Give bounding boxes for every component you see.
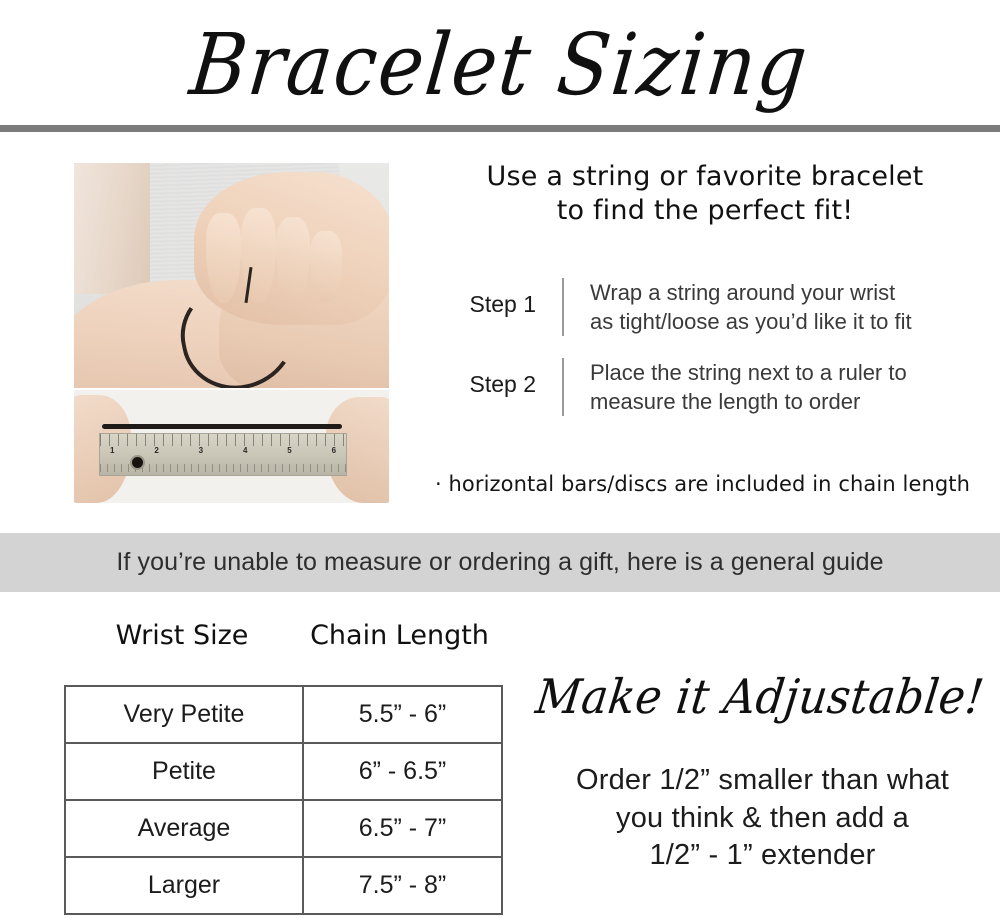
page-title: Bracelet Sizing [186, 14, 814, 114]
ruler-ticks-inches [100, 434, 346, 446]
cell-wrist-size: Very Petite [65, 686, 303, 743]
ruler-number: 6 [332, 446, 336, 455]
ruler-measure-photo: 1 2 3 4 5 6 [74, 390, 389, 503]
ruler-number: 5 [287, 446, 291, 455]
step-2-label: Step 2 [430, 358, 562, 398]
step-2-line-2: measure the length to order [590, 387, 990, 416]
ruler-hanging-hole [130, 455, 145, 470]
wrist-string-photo [74, 163, 389, 388]
step-1-text: Wrap a string around your wrist as tight… [590, 278, 990, 336]
general-guide-banner: If you’re unable to measure or ordering … [0, 533, 1000, 592]
make-it-adjustable-text: Order 1/2” smaller than what you think &… [530, 762, 995, 875]
step-1-label: Step 1 [430, 278, 562, 318]
table-row: Average 6.5” - 7” [65, 800, 502, 857]
ruler-number: 2 [154, 446, 158, 455]
step-1-divider [562, 278, 564, 336]
adjustable-line-3: 1/2” - 1” extender [530, 837, 995, 875]
make-it-adjustable-title: Make it Adjustable! [517, 670, 1000, 725]
step-2-line-1: Place the string next to a ruler to [590, 358, 990, 387]
step-1-line-2: as tight/loose as you’d like it to fit [590, 307, 990, 336]
steps-list: Step 1 Wrap a string around your wrist a… [430, 278, 990, 438]
general-guide-banner-text: If you’re unable to measure or ordering … [116, 548, 883, 577]
ruler-number: 3 [199, 446, 203, 455]
sizing-table-headers: Wrist Size Chain Length [64, 620, 499, 651]
column-header-wrist-size: Wrist Size [64, 620, 300, 651]
cell-wrist-size: Average [65, 800, 303, 857]
page-title-container: Bracelet Sizing [0, 8, 1000, 120]
cell-chain-length: 7.5” - 8” [303, 857, 502, 914]
intro-line-2: to find the perfect fit! [420, 194, 990, 228]
cell-wrist-size: Larger [65, 857, 303, 914]
table-row: Very Petite 5.5” - 6” [65, 686, 502, 743]
step-2-text: Place the string next to a ruler to meas… [590, 358, 990, 416]
adjustable-line-1: Order 1/2” smaller than what [530, 762, 995, 800]
ruler-shape: 1 2 3 4 5 6 [99, 433, 347, 476]
table-row: Petite 6” - 6.5” [65, 743, 502, 800]
chain-length-footnote: · horizontal bars/discs are included in … [415, 472, 990, 496]
intro-text: Use a string or favorite bracelet to fin… [420, 160, 990, 228]
ruler-number: 1 [110, 446, 114, 455]
intro-line-1: Use a string or favorite bracelet [420, 160, 990, 194]
cell-chain-length: 6” - 6.5” [303, 743, 502, 800]
cell-chain-length: 5.5” - 6” [303, 686, 502, 743]
finger-shape [310, 231, 342, 303]
cell-chain-length: 6.5” - 7” [303, 800, 502, 857]
header-divider [0, 125, 1000, 132]
sizing-table: Very Petite 5.5” - 6” Petite 6” - 6.5” A… [64, 685, 503, 915]
step-2-divider [562, 358, 564, 416]
table-row: Larger 7.5” - 8” [65, 857, 502, 914]
adjustable-line-2: you think & then add a [530, 800, 995, 838]
step-row-2: Step 2 Place the string next to a ruler … [430, 358, 990, 416]
shoulder-shape [74, 163, 150, 294]
ruler-numbers: 1 2 3 4 5 6 [110, 446, 336, 455]
step-1-line-1: Wrap a string around your wrist [590, 278, 990, 307]
photo-column: 1 2 3 4 5 6 [74, 163, 389, 503]
step-row-1: Step 1 Wrap a string around your wrist a… [430, 278, 990, 336]
cell-wrist-size: Petite [65, 743, 303, 800]
column-header-chain-length: Chain Length [300, 620, 499, 651]
ruler-number: 4 [243, 446, 247, 455]
black-string-straight [102, 424, 341, 429]
